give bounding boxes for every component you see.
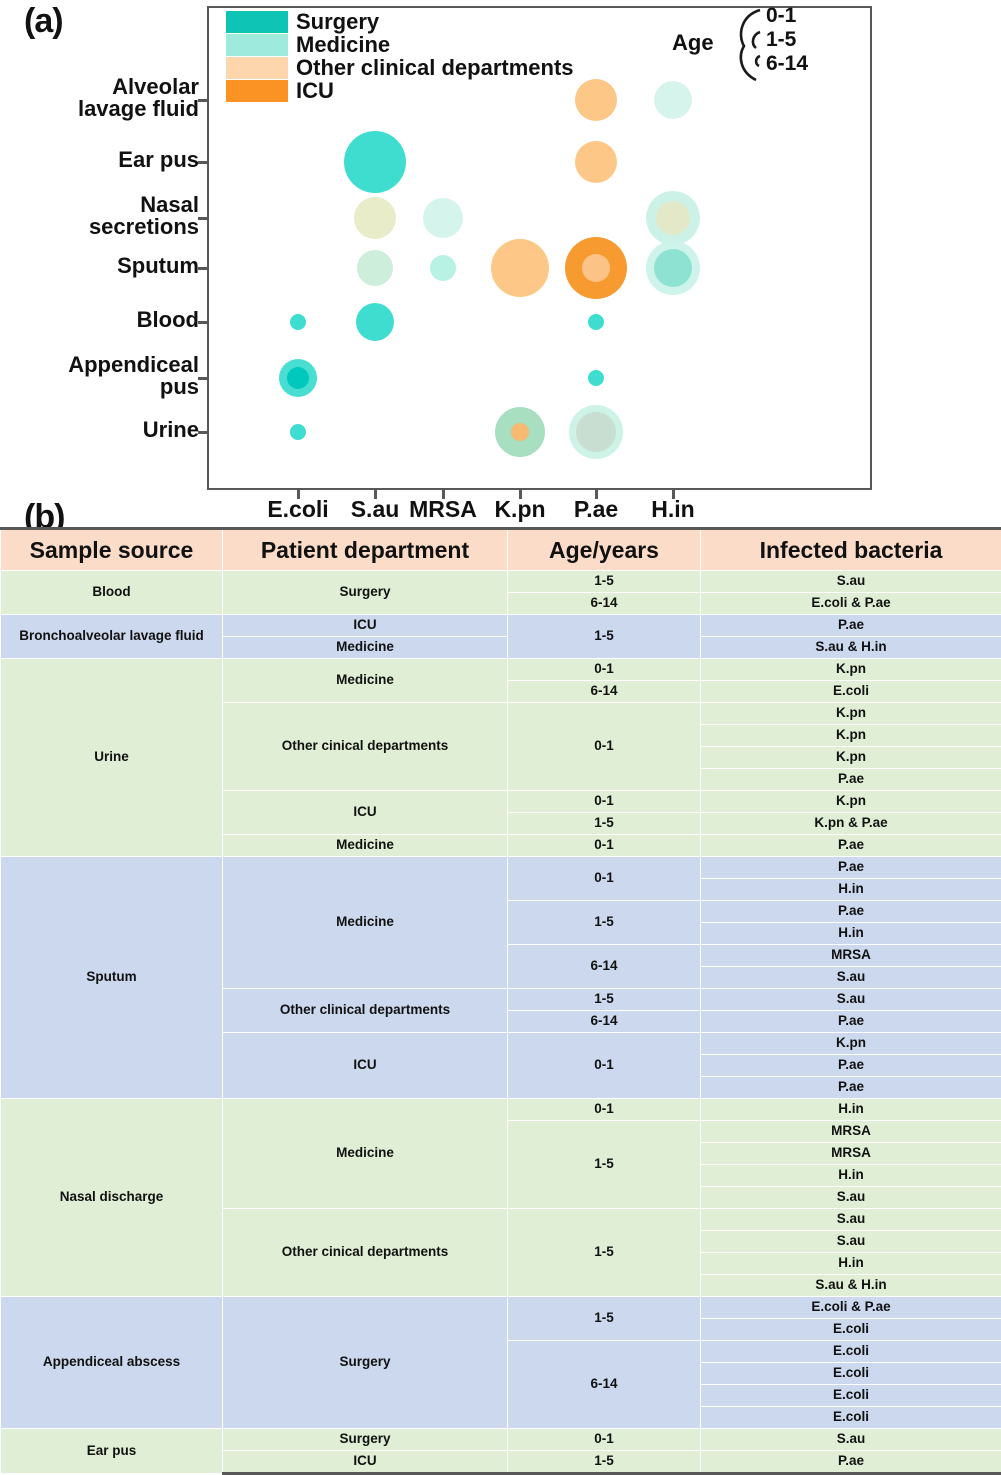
age-level-2: 6-14: [766, 52, 808, 76]
cell-patient-department: ICU: [223, 615, 508, 637]
cell-age: 0-1: [508, 1033, 701, 1099]
cell-sample-source: Nasal discharge: [1, 1099, 223, 1297]
th-infected-bacteria: Infected bacteria: [701, 529, 1001, 571]
bubble-Sau-nasal: [354, 197, 396, 239]
cell-infected-bacteria: E.coli & P.ae: [701, 593, 1001, 615]
y-tick: [198, 267, 207, 270]
panel-label-a: (a): [24, 2, 63, 41]
cell-infected-bacteria: P.ae: [701, 769, 1001, 791]
cell-age: 0-1: [508, 1099, 701, 1121]
y-axis-label-line: pus: [0, 376, 199, 398]
table-row: Nasal dischargeMedicine0-1H.in: [1, 1099, 1001, 1121]
cell-infected-bacteria: H.in: [701, 879, 1001, 901]
table-header-row: Sample source Patient department Age/yea…: [1, 529, 1001, 571]
legend-label: Other clinical departments: [296, 57, 574, 79]
cell-infected-bacteria: S.au: [701, 1187, 1001, 1209]
cell-age: 0-1: [508, 1429, 701, 1451]
legend-item: Other clinical departments: [226, 56, 574, 79]
cell-infected-bacteria: K.pn: [701, 725, 1001, 747]
cell-infected-bacteria: P.ae: [701, 857, 1001, 879]
bubble-Pae-appendiceal: [588, 370, 604, 386]
bubble-Sau-sputum: [357, 250, 393, 286]
cell-age: 6-14: [508, 1011, 701, 1033]
th-sample-source: Sample source: [1, 529, 223, 571]
table-row: Appendiceal abscessSurgery1-5E.coli & P.…: [1, 1297, 1001, 1319]
cell-age: 1-5: [508, 989, 701, 1011]
cell-age: 0-1: [508, 703, 701, 791]
cell-infected-bacteria: MRSA: [701, 1143, 1001, 1165]
cell-infected-bacteria: E.coli: [701, 1341, 1001, 1363]
cell-infected-bacteria: S.au & H.in: [701, 637, 1001, 659]
legend-swatch: [226, 11, 288, 33]
y-axis-label: Ear pus: [0, 149, 199, 171]
cell-infected-bacteria: H.in: [701, 1165, 1001, 1187]
cell-patient-department: Surgery: [223, 1429, 508, 1451]
y-axis-label-line: secretions: [0, 216, 199, 238]
cell-patient-department: Medicine: [223, 659, 508, 703]
cell-age: 6-14: [508, 945, 701, 989]
bubble-MRSA-nasal: [423, 198, 463, 238]
table-row: Bronchoalveolar lavage fluidICU1-5P.ae: [1, 615, 1001, 637]
legend-item: Surgery: [226, 10, 574, 33]
bubble-Ecoli-urine: [290, 424, 306, 440]
cell-infected-bacteria: P.ae: [701, 615, 1001, 637]
bubble-Ecoli-appendiceal: [287, 367, 309, 389]
legend-swatch: [226, 80, 288, 102]
cell-infected-bacteria: E.coli & P.ae: [701, 1297, 1001, 1319]
bubble-Kpn-sputum: [491, 239, 549, 297]
cell-infected-bacteria: K.pn & P.ae: [701, 813, 1001, 835]
bubble-Pae-sputum: [582, 254, 610, 282]
x-axis-label: S.au: [351, 496, 400, 523]
legend-label: ICU: [296, 80, 334, 102]
cell-infected-bacteria: K.pn: [701, 747, 1001, 769]
cell-infected-bacteria: E.coli: [701, 1363, 1001, 1385]
cell-infected-bacteria: S.au: [701, 1231, 1001, 1253]
cell-patient-department: ICU: [223, 1451, 508, 1474]
cell-age: 1-5: [508, 901, 701, 945]
bubble-Hin-sputum: [654, 249, 692, 287]
cell-patient-department: Other clinical departments: [223, 989, 508, 1033]
bubble-Pae-alveolar: [575, 79, 617, 121]
cell-infected-bacteria: H.in: [701, 1253, 1001, 1275]
y-axis-label-line: Appendiceal: [0, 354, 199, 376]
bubble-Pae-blood: [588, 314, 604, 330]
y-axis-label: Blood: [0, 309, 199, 331]
cell-infected-bacteria: S.au: [701, 571, 1001, 593]
bubble-chart-panel: (a) Alveolarlavage fluidEar pusNasalsecr…: [0, 0, 1001, 510]
y-tick: [198, 217, 207, 220]
y-axis-label: Appendicealpus: [0, 354, 199, 399]
cell-sample-source: Blood: [1, 571, 223, 615]
cell-age: 0-1: [508, 659, 701, 681]
cell-patient-department: Medicine: [223, 637, 508, 659]
bubble-Sau-ear: [344, 131, 406, 193]
y-axis-label: Sputum: [0, 255, 199, 277]
cell-age: 1-5: [508, 1297, 701, 1341]
age-size-legend: Age 0-1 1-5 6-14: [672, 4, 862, 84]
cell-sample-source: Ear pus: [1, 1429, 223, 1474]
cell-age: 1-5: [508, 1209, 701, 1297]
y-axis-label: Urine: [0, 419, 199, 441]
cell-sample-source: Appendiceal abscess: [1, 1297, 223, 1429]
bubble-Kpn-urine: [511, 423, 529, 441]
cell-age: 6-14: [508, 593, 701, 615]
cell-infected-bacteria: P.ae: [701, 1055, 1001, 1077]
cell-age: 0-1: [508, 791, 701, 813]
cell-sample-source: Urine: [1, 659, 223, 857]
cell-infected-bacteria: E.coli: [701, 1385, 1001, 1407]
cell-infected-bacteria: E.coli: [701, 681, 1001, 703]
legend-item: Medicine: [226, 33, 574, 56]
x-axis-label: P.ae: [574, 496, 618, 523]
table-body: BloodSurgery1-5S.au6-14E.coli & P.aeBron…: [1, 571, 1001, 1474]
cell-age: 1-5: [508, 1451, 701, 1474]
bubble-Hin-alveolar: [654, 81, 692, 119]
cell-age: 0-1: [508, 857, 701, 901]
cell-infected-bacteria: P.ae: [701, 1077, 1001, 1099]
legend-swatch: [226, 34, 288, 56]
table-row: BloodSurgery1-5S.au: [1, 571, 1001, 593]
bubble-Hin-nasal: [656, 201, 690, 235]
legend-swatch: [226, 57, 288, 79]
cell-infected-bacteria: H.in: [701, 1099, 1001, 1121]
y-tick: [198, 321, 207, 324]
y-axis-label: Alveolarlavage fluid: [0, 76, 199, 121]
cell-infected-bacteria: E.coli: [701, 1407, 1001, 1429]
cell-infected-bacteria: S.au: [701, 967, 1001, 989]
age-level-1: 1-5: [766, 28, 796, 52]
cell-age: 6-14: [508, 681, 701, 703]
cell-age: 1-5: [508, 571, 701, 593]
y-tick: [198, 161, 207, 164]
table-row: UrineMedicine0-1K.pn: [1, 659, 1001, 681]
legend-item: ICU: [226, 79, 574, 102]
cell-infected-bacteria: MRSA: [701, 1121, 1001, 1143]
y-axis-label-line: lavage fluid: [0, 98, 199, 120]
cell-infected-bacteria: S.au: [701, 989, 1001, 1011]
cell-patient-department: Other cinical departments: [223, 703, 508, 791]
cell-infected-bacteria: S.au: [701, 1429, 1001, 1451]
y-axis-label-line: Sputum: [0, 255, 199, 277]
bubble-MRSA-sputum: [430, 255, 456, 281]
y-axis-label-line: Urine: [0, 419, 199, 441]
y-axis-label-line: Nasal: [0, 194, 199, 216]
cell-patient-department: ICU: [223, 1033, 508, 1099]
y-axis-label: Nasalsecretions: [0, 194, 199, 239]
th-age: Age/years: [508, 529, 701, 571]
y-axis-label-line: Blood: [0, 309, 199, 331]
age-arcs-icon: [730, 6, 770, 84]
cell-infected-bacteria: MRSA: [701, 945, 1001, 967]
x-axis-label: K.pn: [494, 496, 545, 523]
cell-patient-department: Medicine: [223, 1099, 508, 1209]
cell-infected-bacteria: E.coli: [701, 1319, 1001, 1341]
cell-patient-department: Surgery: [223, 571, 508, 615]
y-axis-label-line: Ear pus: [0, 149, 199, 171]
infection-table: Sample source Patient department Age/yea…: [0, 527, 1001, 1475]
bubble-Ecoli-blood: [290, 314, 306, 330]
cell-patient-department: Surgery: [223, 1297, 508, 1429]
cell-sample-source: Sputum: [1, 857, 223, 1099]
cell-infected-bacteria: P.ae: [701, 1451, 1001, 1474]
cell-age: 0-1: [508, 835, 701, 857]
legend-label: Medicine: [296, 34, 390, 56]
y-tick: [198, 431, 207, 434]
cell-sample-source: Bronchoalveolar lavage fluid: [1, 615, 223, 659]
cell-infected-bacteria: H.in: [701, 923, 1001, 945]
cell-infected-bacteria: K.pn: [701, 703, 1001, 725]
cell-age: 1-5: [508, 1121, 701, 1209]
y-axis-label-line: Alveolar: [0, 76, 199, 98]
table-row: Ear pusSurgery0-1S.au: [1, 1429, 1001, 1451]
cell-infected-bacteria: K.pn: [701, 659, 1001, 681]
x-axis-label: MRSA: [409, 496, 477, 523]
x-axis-label: H.in: [651, 496, 694, 523]
age-legend-title: Age: [672, 30, 714, 56]
bubble-Pae-ear: [575, 141, 617, 183]
cell-age: 1-5: [508, 615, 701, 659]
cell-patient-department: Medicine: [223, 857, 508, 989]
cell-infected-bacteria: S.au & H.in: [701, 1275, 1001, 1297]
cell-age: 6-14: [508, 1341, 701, 1429]
y-tick: [198, 377, 207, 380]
cell-age: 1-5: [508, 813, 701, 835]
cell-patient-department: Medicine: [223, 835, 508, 857]
cell-infected-bacteria: P.ae: [701, 1011, 1001, 1033]
x-axis-label: E.coli: [267, 496, 328, 523]
th-patient-department: Patient department: [223, 529, 508, 571]
y-tick: [198, 99, 207, 102]
department-legend: SurgeryMedicineOther clinical department…: [226, 10, 574, 102]
legend-label: Surgery: [296, 11, 379, 33]
age-level-0: 0-1: [766, 4, 796, 28]
cell-infected-bacteria: S.au: [701, 1209, 1001, 1231]
bubble-Sau-blood: [356, 303, 394, 341]
table-row: SputumMedicine0-1P.ae: [1, 857, 1001, 879]
cell-infected-bacteria: K.pn: [701, 1033, 1001, 1055]
cell-infected-bacteria: K.pn: [701, 791, 1001, 813]
bubble-Pae-urine: [576, 412, 616, 452]
cell-patient-department: Other cinical departments: [223, 1209, 508, 1297]
cell-infected-bacteria: P.ae: [701, 835, 1001, 857]
cell-infected-bacteria: P.ae: [701, 901, 1001, 923]
cell-patient-department: ICU: [223, 791, 508, 835]
